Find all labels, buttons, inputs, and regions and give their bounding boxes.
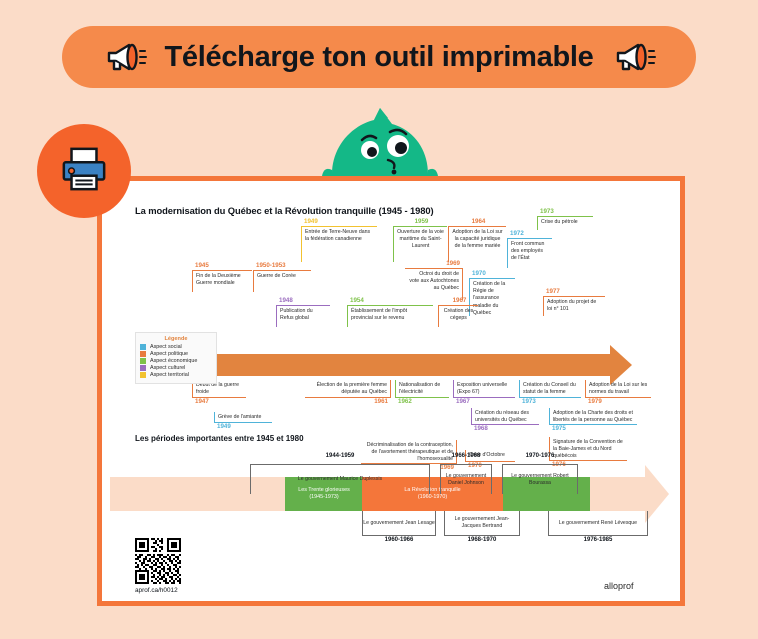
- government-years: 1968-1970: [444, 537, 520, 543]
- event-year: 1973: [537, 208, 593, 216]
- event-year: 1964: [448, 218, 506, 226]
- timeline-event: Création du réseau des universités du Qu…: [471, 408, 539, 433]
- government-name: Le gouvernement Jean Lesage: [363, 520, 435, 527]
- timeline-event: 1950-1953 Guerre de Corée: [253, 262, 311, 292]
- timeline-event: 1959 Ouverture de la voie maritime du Sa…: [393, 218, 447, 262]
- government-years: 1960-1966: [362, 537, 436, 543]
- event-text: Adoption de la Loi sur la capacité jurid…: [448, 226, 506, 262]
- periods-band-arrow: [645, 465, 669, 523]
- timeline-event: 1945 Fin de la Deuxième Guerre mondiale: [192, 262, 252, 292]
- event-year: 1949: [214, 423, 272, 431]
- legend-swatch-economique: [140, 358, 146, 364]
- government-name: Le gouvernement Jean-Jacques Bertrand: [445, 516, 519, 530]
- event-year: 1970: [469, 270, 515, 278]
- megaphone-icon: [103, 40, 147, 74]
- legend-item: Aspect culturel: [140, 365, 212, 371]
- sheet-title: La modernisation du Québec et la Révolut…: [135, 205, 433, 216]
- periods-chart: Les Trente glorieuses (1945-1973) La Rév…: [110, 447, 676, 535]
- government-years: 1976-1985: [548, 537, 648, 543]
- event-year: 1945: [192, 262, 252, 270]
- legend-swatch-territorial: [140, 372, 146, 378]
- government-name: Le gouvernement René Lévesque: [559, 520, 637, 527]
- legend-swatch-politique: [140, 351, 146, 357]
- event-text: Crise du pétrole: [537, 216, 593, 230]
- timeline-event: 1967 Création des cégeps: [438, 297, 478, 327]
- bar-label-sub: (1960-1970): [418, 494, 447, 501]
- event-text: Adoption de la Charte des droits et libe…: [549, 408, 637, 425]
- event-text: Adoption du projet de loi n° 101: [543, 296, 605, 316]
- legend-label: Aspect économique: [150, 358, 197, 364]
- government-name: Le gouvernement Daniel Johnson: [441, 473, 491, 487]
- event-year: 1962: [395, 398, 449, 406]
- event-year: 1948: [276, 297, 330, 305]
- timeline-event: Élection de la première femme députée au…: [305, 380, 391, 406]
- timeline: 1949 Entrée de Terre-Neuve dans la fédér…: [135, 218, 655, 428]
- event-year: 1959: [393, 218, 447, 226]
- timeline-event: Création du Conseil du statut de la femm…: [519, 380, 581, 406]
- event-text: Ouverture de la voie maritime du Saint-L…: [393, 226, 447, 262]
- event-text: Création des cégeps: [438, 305, 478, 327]
- government-box: Le gouvernement Maurice Duplessis: [250, 464, 430, 494]
- event-year: 1947: [192, 398, 246, 406]
- alloprof-logo: alloprof: [604, 581, 634, 591]
- timeline-event: Adoption de la Charte des droits et libe…: [549, 408, 637, 433]
- legend-swatch-social: [140, 344, 146, 350]
- timeline-event: 1973 Crise du pétrole: [537, 208, 593, 230]
- government-box: Le gouvernement Jean-Jacques Bertrand: [444, 511, 520, 536]
- timeline-event: Exposition universelle (Expo 67) 1967: [453, 380, 515, 406]
- event-text: Fin de la Deuxième Guerre mondiale: [192, 270, 252, 292]
- government-box: Le gouvernement Daniel Johnson: [440, 464, 492, 494]
- event-text: Grève de l'amiante: [214, 412, 272, 423]
- event-text: Exposition universelle (Expo 67): [453, 380, 515, 398]
- legend-item: Aspect économique: [140, 358, 212, 364]
- event-text: Adoption de la Loi sur les normes du tra…: [585, 380, 651, 398]
- legend-label: Aspect culturel: [150, 365, 185, 371]
- page-title: Télécharge ton outil imprimable: [165, 41, 594, 74]
- event-year: 1961: [305, 398, 391, 406]
- bar-label-sub: (1945-1973): [309, 494, 338, 501]
- event-year: 1972: [507, 230, 552, 238]
- legend-title: Légende: [140, 336, 212, 342]
- event-year: 1967: [438, 297, 478, 305]
- legend-label: Aspect politique: [150, 351, 188, 357]
- event-text: Entrée de Terre-Neuve dans la fédération…: [301, 226, 377, 262]
- timeline-event: 1969 Octroi du droit de vote aux Autocht…: [405, 260, 463, 300]
- legend-item: Aspect territorial: [140, 372, 212, 378]
- government-box: Le gouvernement Robert Bourassa: [502, 464, 578, 494]
- event-text: Nationalisation de l'électricité: [395, 380, 449, 398]
- government-years: 1966-1968: [432, 453, 500, 459]
- download-banner: Télécharge ton outil imprimable: [62, 26, 696, 88]
- qr-code[interactable]: [135, 538, 181, 584]
- event-year: 1949: [301, 218, 377, 226]
- infographic-page: Télécharge ton outil imprimable: [0, 0, 758, 639]
- timeline-event: 1977 Adoption du projet de loi n° 101: [543, 288, 605, 316]
- timeline-event: 1948 Publication du Refus global: [276, 297, 330, 327]
- timeline-event: Adoption de la Loi sur les normes du tra…: [585, 380, 651, 406]
- timeline-event: 1949 Entrée de Terre-Neuve dans la fédér…: [301, 218, 377, 262]
- legend: Légende Aspect social Aspect politique A…: [135, 332, 217, 384]
- timeline-event: 1972 Front commun des employés de l'État: [507, 230, 552, 268]
- event-text: Élection de la première femme députée au…: [305, 380, 391, 398]
- government-years: 1944-1959: [250, 453, 430, 459]
- government-years: 1970-1976: [500, 453, 580, 459]
- legend-swatch-culturel: [140, 365, 146, 371]
- event-year: 1977: [543, 288, 605, 296]
- printable-sheet: La modernisation du Québec et la Révolut…: [97, 176, 685, 606]
- periods-section-title: Les périodes importantes entre 1945 et 1…: [135, 434, 304, 443]
- event-text: Guerre de Corée: [253, 270, 311, 292]
- event-year: 1973: [519, 398, 581, 406]
- printer-icon: [59, 145, 109, 198]
- legend-label: Aspect social: [150, 344, 182, 350]
- event-year: 1967: [453, 398, 515, 406]
- qr-url-label: aprof.ca/h0012: [135, 587, 178, 594]
- timeline-event: 1964 Adoption de la Loi sur la capacité …: [448, 218, 506, 262]
- event-year: 1968: [471, 425, 539, 433]
- event-text: Publication du Refus global: [276, 305, 330, 327]
- legend-label: Aspect territorial: [150, 372, 189, 378]
- timeline-arrow-head: [610, 345, 632, 385]
- event-year: 1950-1953: [253, 262, 311, 270]
- event-text: Front commun des employés de l'État: [507, 238, 552, 268]
- event-year: 1979: [585, 398, 651, 406]
- legend-item: Aspect social: [140, 344, 212, 350]
- legend-item: Aspect politique: [140, 351, 212, 357]
- timeline-event: 1954 Établissement de l'impôt provincial…: [347, 297, 433, 327]
- government-name: Le gouvernement Robert Bourassa: [503, 473, 577, 487]
- government-name: Le gouvernement Maurice Duplessis: [298, 476, 382, 483]
- megaphone-icon: [612, 40, 656, 74]
- event-text: Octroi du droit de vote aux Autochtones …: [405, 268, 463, 300]
- timeline-event: Grève de l'amiante 1949: [214, 412, 272, 431]
- government-box: Le gouvernement Jean Lesage: [362, 511, 436, 536]
- event-year: 1975: [549, 425, 637, 433]
- event-year: 1954: [347, 297, 433, 305]
- government-box: Le gouvernement René Lévesque: [548, 511, 648, 536]
- timeline-event: Nationalisation de l'électricité 1962: [395, 380, 449, 406]
- event-year: 1969: [405, 260, 463, 268]
- event-text: Établissement de l'impôt provincial sur …: [347, 305, 433, 327]
- print-button[interactable]: [37, 124, 131, 218]
- event-text: Création du Conseil du statut de la femm…: [519, 380, 581, 398]
- event-text: Création du réseau des universités du Qu…: [471, 408, 539, 425]
